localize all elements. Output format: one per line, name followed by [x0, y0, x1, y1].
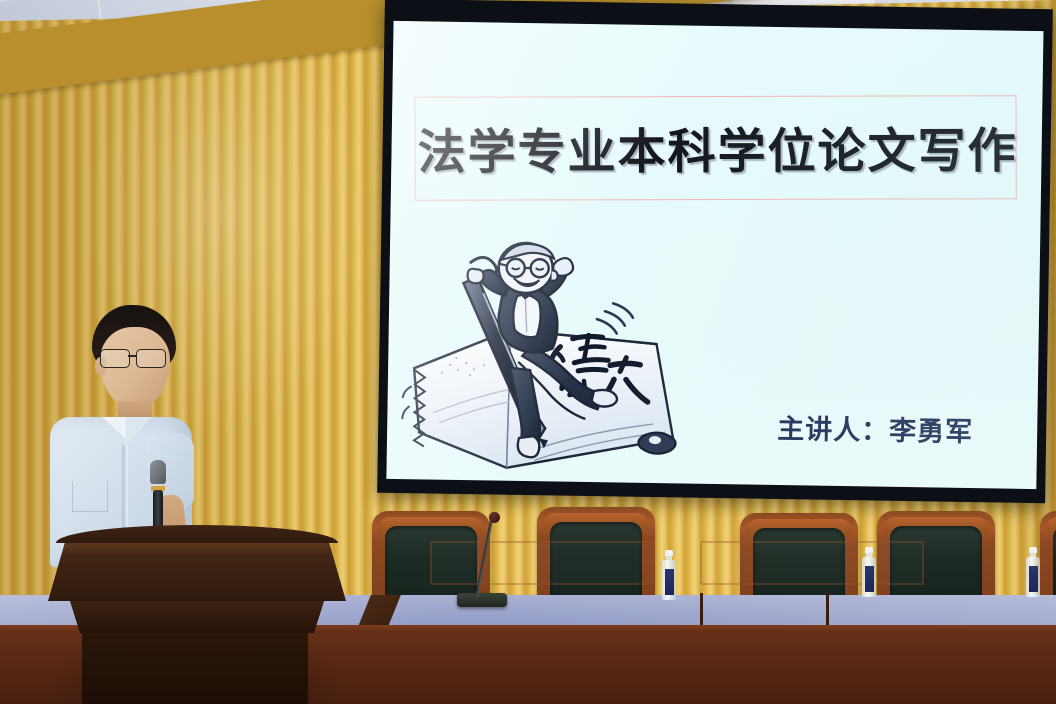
- microphone-head: [150, 460, 166, 484]
- water-bottle: [862, 547, 876, 597]
- water-bottle: [1026, 547, 1040, 597]
- slide-illustration: [396, 236, 690, 484]
- slide-presenter-name: 主讲人：李勇军: [777, 407, 974, 449]
- presenter-face: [100, 327, 170, 409]
- presenter-eyeglasses: [98, 349, 174, 367]
- eyeglass-bridge: [128, 355, 137, 357]
- projection-screen-surface: 法学专业本科学位论文写作: [386, 21, 1043, 489]
- speaking-podium: [36, 525, 358, 704]
- table-decorative-panel: [430, 541, 654, 585]
- gooseneck-microphone-capsule: [489, 512, 500, 523]
- podium-front-face: [48, 539, 346, 601]
- eyeglass-lens-left: [100, 349, 130, 368]
- bottle-label: [865, 566, 874, 592]
- gooseneck-microphone-base: [457, 593, 507, 607]
- slide-title: 法学专业本科学位论文写作: [417, 103, 1013, 201]
- presentation-photo-scene: 法学专业本科学位论文写作: [0, 0, 1056, 704]
- bottle-label: [665, 569, 674, 595]
- podium-column: [82, 631, 308, 704]
- shirt-pocket: [72, 481, 108, 512]
- podium-top-ledge: [56, 525, 338, 543]
- podium-midsection: [64, 599, 330, 633]
- projection-screen-frame: 法学专业本科学位论文写作: [377, 0, 1053, 503]
- bottle-label: [1029, 566, 1038, 592]
- table-decorative-panel: [700, 541, 924, 585]
- water-bottle: [662, 550, 676, 600]
- eyeglass-lens-right: [136, 349, 166, 368]
